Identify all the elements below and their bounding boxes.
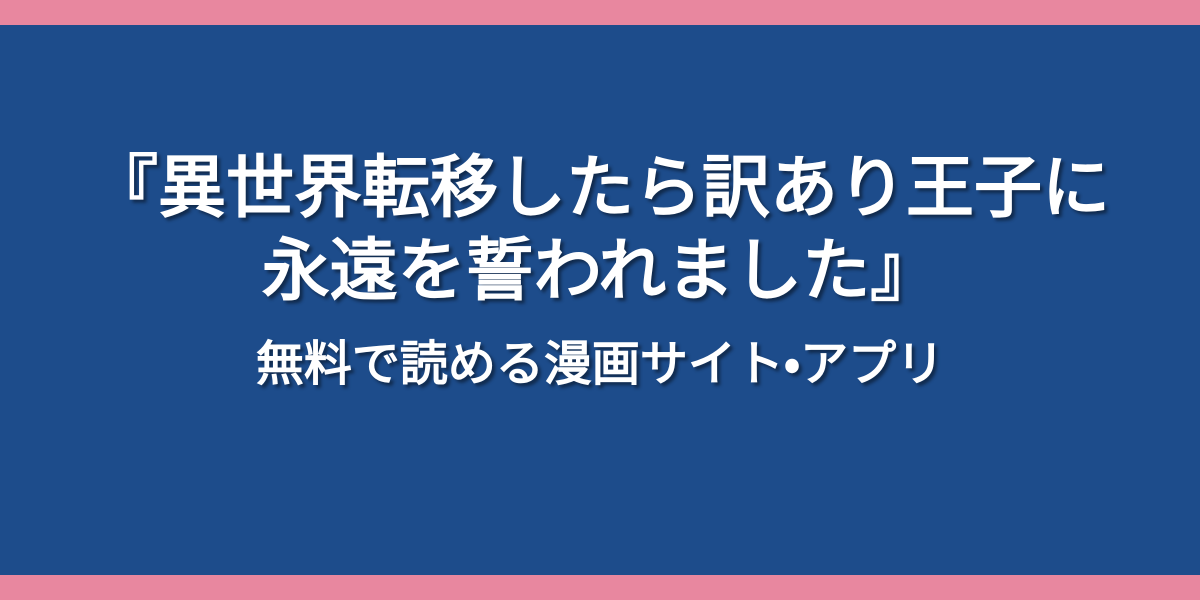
bottom-accent-band xyxy=(0,575,1200,600)
eyecatch-banner: 『異世界転移したら訳あり王子に 永遠を誓われました』 無料で読める漫画サイト・ア… xyxy=(0,0,1200,600)
page-subtitle: 無料で読める漫画サイト・アプリ xyxy=(0,336,1200,394)
title-line-1: 『異世界転移したら訳あり王子に xyxy=(0,147,1200,231)
top-accent-band xyxy=(0,0,1200,25)
banner-body: 『異世界転移したら訳あり王子に 永遠を誓われました』 無料で読める漫画サイト・ア… xyxy=(0,25,1200,575)
banner-text-block: 『異世界転移したら訳あり王子に 永遠を誓われました』 無料で読める漫画サイト・ア… xyxy=(0,147,1200,394)
title-line-2: 永遠を誓われました』 xyxy=(0,230,1200,314)
page-title: 『異世界転移したら訳あり王子に 永遠を誓われました』 xyxy=(0,147,1200,314)
